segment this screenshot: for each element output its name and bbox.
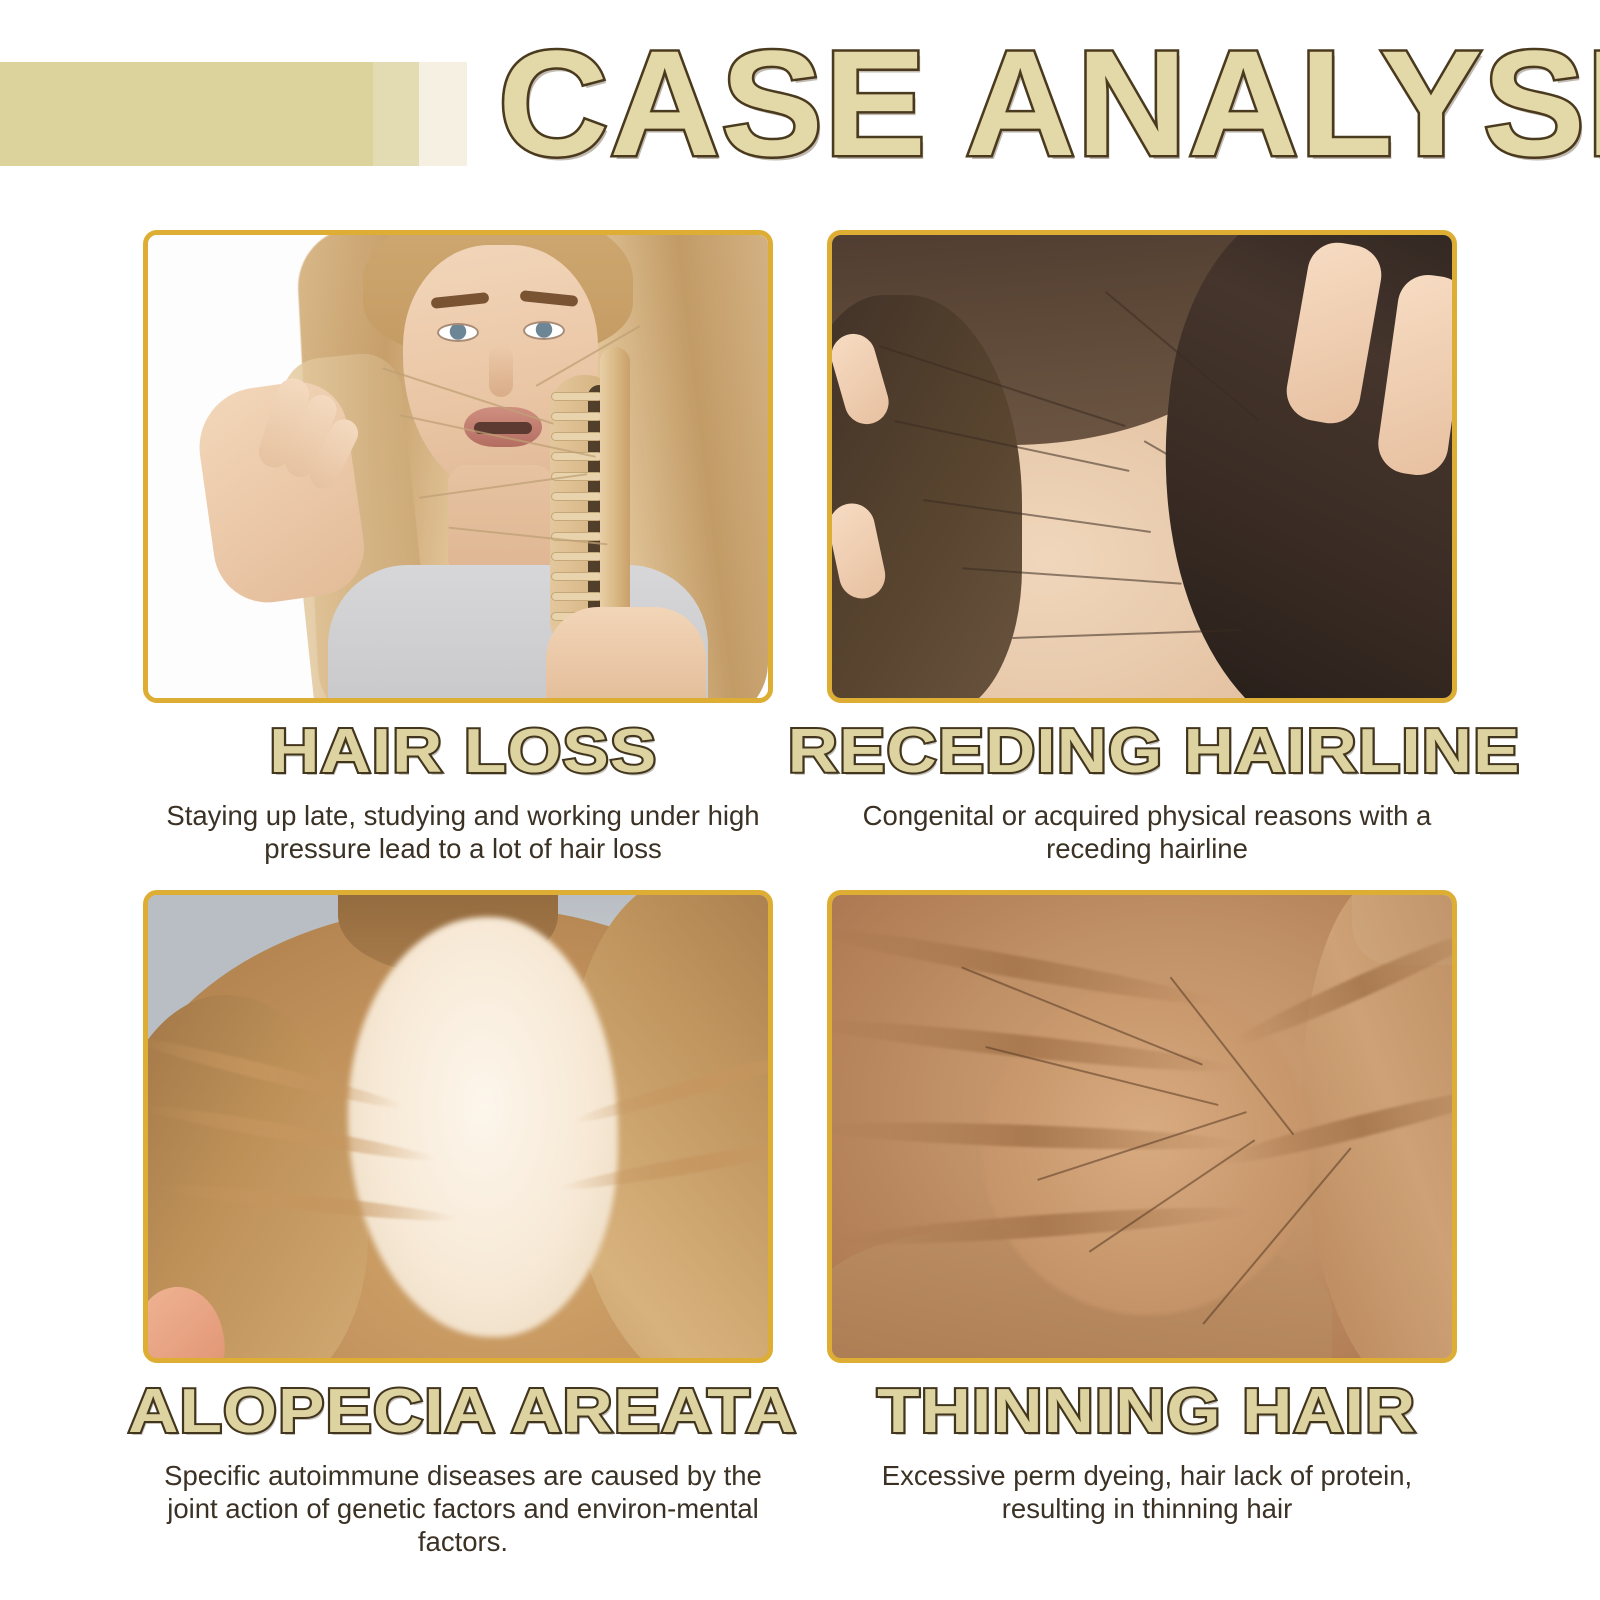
card-title-hair-loss: HAIR LOSS [143,717,783,787]
card-description-alopecia-areata: Specific autoimmune diseases are caused … [143,1459,783,1558]
case-card-alopecia-areata[interactable]: ALOPECIA AREATA Specific autoimmune dise… [143,890,783,1558]
page-title: CASE ANALYSIS [498,28,1600,188]
case-grid: HAIR LOSS Staying up late, studying and … [0,212,1600,1600]
decorative-bar-tertiary [419,62,467,166]
photo-frame-hair-loss [143,230,773,703]
card-description-hair-loss: Staying up late, studying and working un… [143,799,783,865]
photo-hair-loss [148,235,768,698]
decorative-bar-primary [0,62,373,166]
card-description-thinning-hair: Excessive perm dyeing, hair lack of prot… [827,1459,1467,1525]
photo-receding-hairline [832,235,1452,698]
card-title-alopecia-areata: ALOPECIA AREATA [143,1377,783,1447]
photo-frame-thinning-hair [827,890,1457,1363]
photo-frame-alopecia-areata [143,890,773,1363]
case-card-thinning-hair[interactable]: THINNING HAIR Excessive perm dyeing, hai… [827,890,1467,1525]
card-title-thinning-hair: THINNING HAIR [827,1377,1467,1447]
photo-alopecia-areata [148,895,768,1358]
page-header: CASE ANALYSIS [0,0,1600,212]
decorative-bar-secondary [373,62,419,166]
case-card-hair-loss[interactable]: HAIR LOSS Staying up late, studying and … [143,230,783,865]
case-card-receding-hairline[interactable]: RECEDING HAIRLINE Congenital or acquired… [827,230,1467,865]
photo-frame-receding-hairline [827,230,1457,703]
card-description-receding-hairline: Congenital or acquired physical reasons … [827,799,1467,865]
photo-thinning-hair [832,895,1452,1358]
card-title-receding-hairline: RECEDING HAIRLINE [827,717,1467,787]
